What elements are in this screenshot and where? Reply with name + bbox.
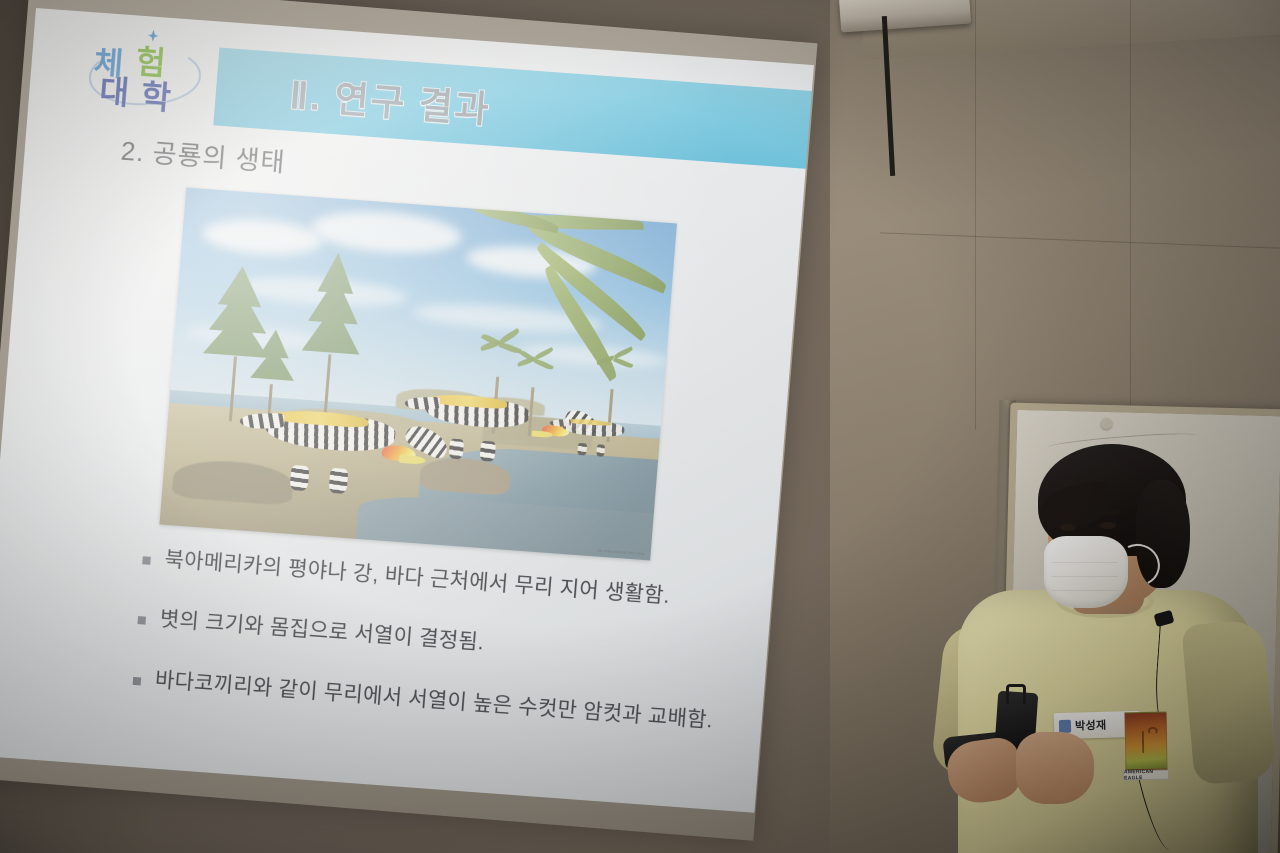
right-hand — [1016, 732, 1094, 804]
eye — [1100, 522, 1116, 529]
presenter: 박성재 AMERICAN EAGLE — [930, 440, 1280, 853]
list-item: 북아메리카의 평야나 강, 바다 근처에서 무리 지어 생활함. — [142, 545, 762, 617]
program-logo: 체 험 대 학 — [80, 24, 214, 117]
transmitter-clip — [1006, 684, 1026, 704]
whiteboard-magnet — [1101, 418, 1112, 429]
bullet-square-icon — [137, 616, 146, 625]
eye — [1060, 524, 1076, 531]
right-sleeve — [1181, 619, 1277, 786]
dinosaur-middle — [423, 395, 530, 448]
projected-slide: 체 험 대 학 Ⅱ. 연구 결과 2. 공룡의 생태 — [0, 8, 814, 813]
bullet-square-icon — [142, 556, 151, 565]
logo-char-3: 대 — [98, 66, 129, 114]
list-item: 바다코끼리와 같이 무리에서 서열이 높은 수컷만 암컷과 교배함. — [132, 665, 752, 737]
face-mask — [1044, 536, 1128, 608]
bird-silhouette-icon — [1148, 727, 1158, 735]
tshirt-brand-label: AMERICAN EAGLE — [1123, 770, 1169, 781]
slide-title: Ⅱ. 연구 결과 — [288, 65, 493, 134]
bird-silhouette-icon — [1142, 731, 1150, 753]
badge-logo-icon — [1059, 719, 1071, 732]
tshirt-graphic-print — [1124, 712, 1167, 771]
bullet-text: 바다코끼리와 같이 무리에서 서열이 높은 수컷만 암컷과 교배함. — [154, 667, 714, 734]
logo-char-4: 학 — [140, 71, 171, 119]
bullet-text: 볏의 크기와 몸집으로 서열이 결정됨. — [159, 607, 485, 657]
badge-name-text: 박성재 — [1075, 717, 1107, 734]
slide-bullet-list: 북아메리카의 평야나 강, 바다 근처에서 무리 지어 생활함. 볏의 크기와 … — [129, 545, 762, 771]
list-item: 볏의 크기와 몸집으로 서열이 결정됨. — [137, 605, 757, 677]
wall-panel-seam — [1130, 0, 1131, 430]
wall-panel-seam — [975, 0, 976, 430]
bullet-square-icon — [133, 676, 142, 685]
slide-title-band: Ⅱ. 연구 결과 — [213, 48, 814, 169]
dinosaur-illustration: for educational use only — [159, 187, 677, 560]
dinosaur-foreground — [263, 410, 397, 477]
slide-subtitle: 2. 공룡의 생태 — [120, 131, 287, 180]
tshirt-brand-text: AMERICAN EAGLE — [1124, 769, 1168, 782]
dinosaur-background — [561, 418, 625, 448]
presentation-scene: 체 험 대 학 Ⅱ. 연구 결과 2. 공룡의 생태 — [0, 0, 1280, 853]
